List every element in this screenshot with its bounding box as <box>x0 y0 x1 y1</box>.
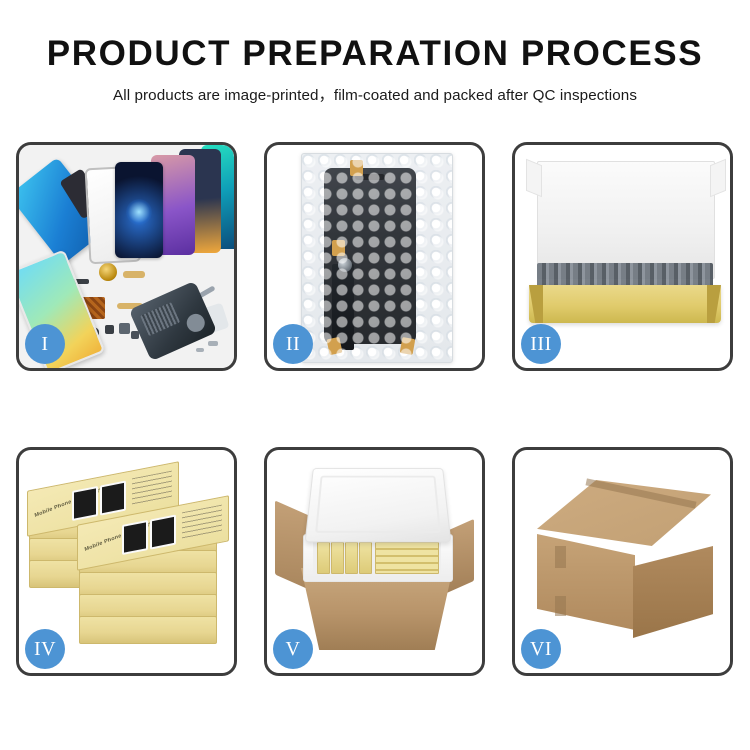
process-step-5: V <box>264 447 485 676</box>
yellow-box-item <box>345 542 358 574</box>
process-step-1: I <box>16 142 237 371</box>
yellow-box-item <box>317 542 330 574</box>
box-kraft-base <box>529 285 721 323</box>
step-badge-6: VI <box>521 629 561 669</box>
yellow-box-stack <box>375 542 439 574</box>
retail-box-stack: Mobile Phone Spare Parts Mobile Phone Sp… <box>27 472 227 652</box>
box-inner-lid <box>537 161 715 279</box>
yellow-box-item <box>359 542 372 574</box>
part-screw-2 <box>196 348 204 352</box>
step-badge-5: V <box>273 629 313 669</box>
foam-liner-lid <box>305 468 452 542</box>
retail-box-side <box>79 616 217 644</box>
step-badge-3: III <box>521 324 561 364</box>
gold-tab-2 <box>332 240 345 256</box>
process-step-2: II <box>264 142 485 371</box>
part-connector-3 <box>105 325 114 334</box>
step-badge-1: I <box>25 324 65 364</box>
box-spec-lines <box>182 505 222 541</box>
gold-tab-4 <box>400 337 416 355</box>
page-subtitle: All products are image-printed，film-coat… <box>0 83 750 105</box>
box-window-2 <box>150 515 176 550</box>
carton-tape-patch-1 <box>555 546 566 568</box>
process-step-6: VI <box>512 447 733 676</box>
step-badge-2: II <box>273 324 313 364</box>
bubble-wrap-bag <box>301 153 453 363</box>
box-window-2 <box>100 481 126 516</box>
step-badge-4: IV <box>25 629 65 669</box>
page-title: PRODUCT PREPARATION PROCESS <box>0 36 750 73</box>
part-coil <box>99 263 117 281</box>
carton-tape-patch-2 <box>555 596 566 616</box>
box-window-1 <box>122 520 148 555</box>
process-step-4: Mobile Phone Spare Parts Mobile Phone Sp… <box>16 447 237 676</box>
product-preparation-page: PRODUCT PREPARATION PROCESS All products… <box>0 0 750 750</box>
part-screw-1 <box>208 341 218 346</box>
phone-screen-blue-wallpaper <box>115 162 163 258</box>
page-header: PRODUCT PREPARATION PROCESS All products… <box>0 0 750 105</box>
carton-contents <box>313 540 441 574</box>
box-window-1 <box>72 486 98 521</box>
part-flex-cable-a <box>123 271 145 278</box>
process-steps-grid: I II <box>16 142 734 676</box>
camera-module <box>338 258 352 272</box>
gold-tab-1 <box>350 160 363 176</box>
carton-side-face <box>633 546 713 638</box>
carton-front-face <box>537 534 635 630</box>
yellow-box-item <box>331 542 344 574</box>
box-spec-lines <box>132 471 172 507</box>
part-connector-4 <box>119 323 130 334</box>
process-step-3: III <box>512 142 733 371</box>
